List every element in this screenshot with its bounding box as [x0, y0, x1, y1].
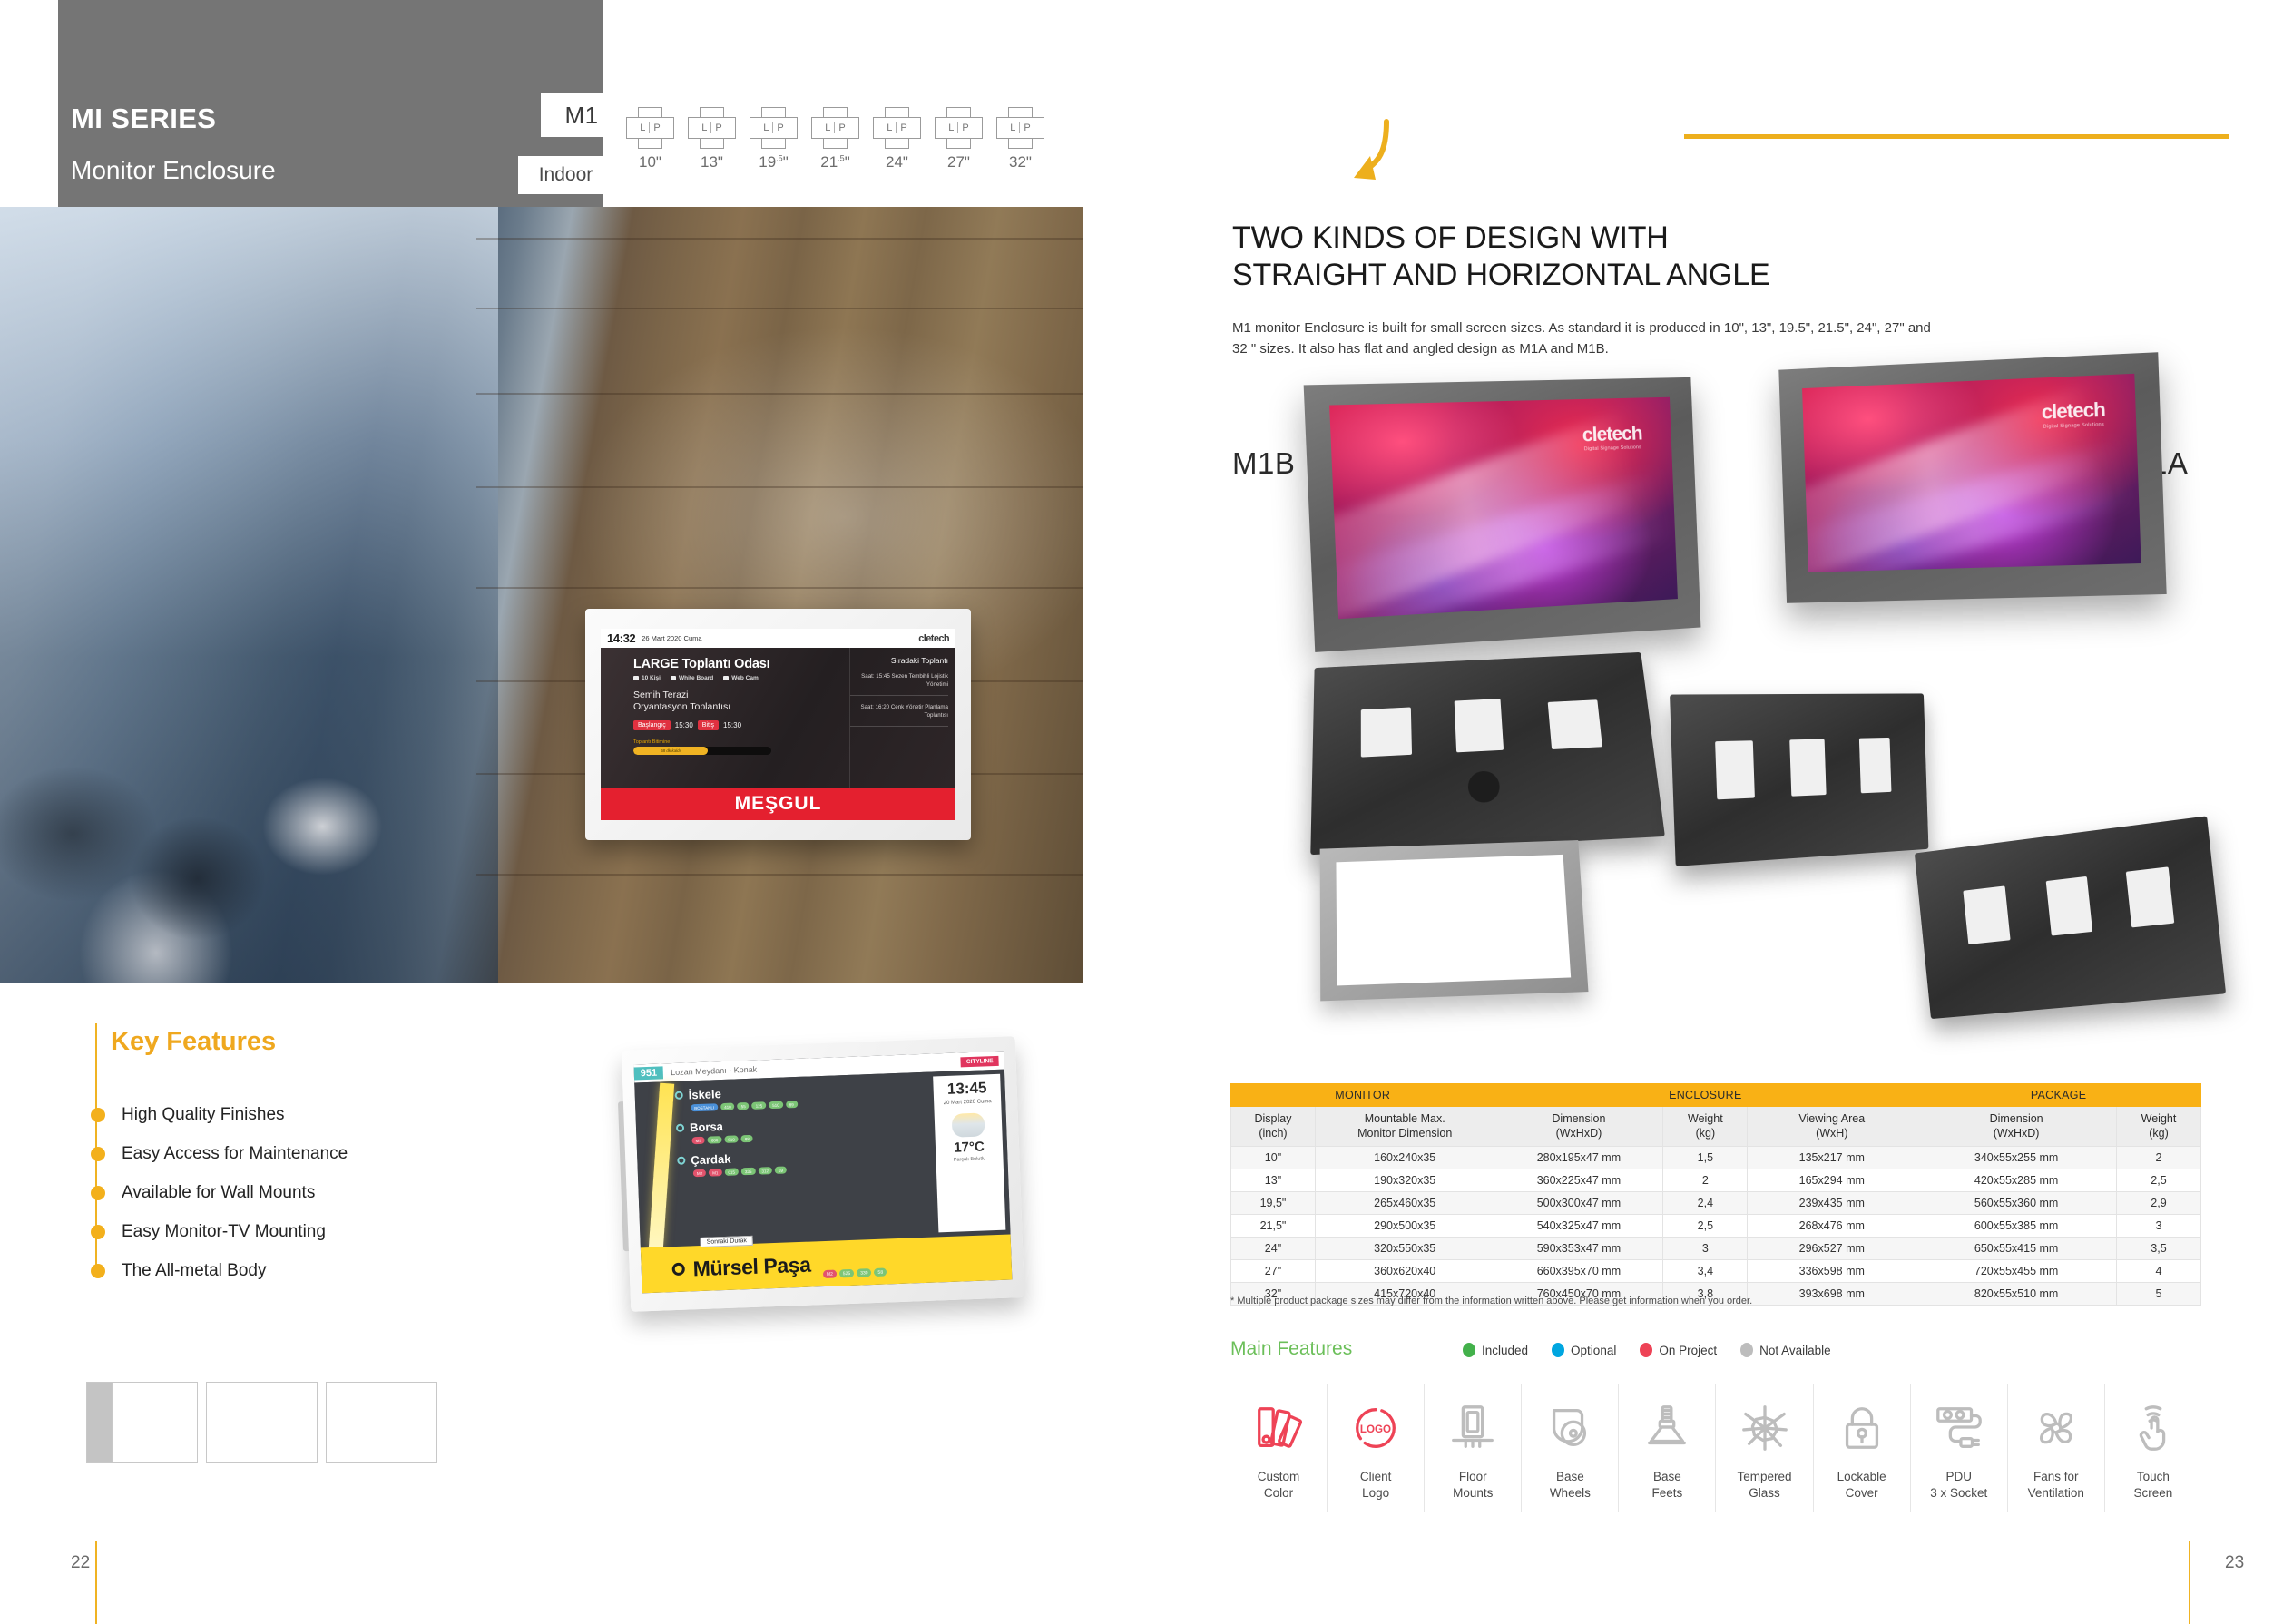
bullet-icon — [91, 1108, 105, 1122]
weather-condition: Parçalı Bulutlu — [936, 1156, 1003, 1165]
stop-line-badge: BOSTANLI — [691, 1103, 718, 1111]
feature-caption-line1: Base — [1522, 1469, 1618, 1485]
table-cell: 420x55x285 mm — [1916, 1169, 2117, 1192]
feature-caption: CustomColor — [1230, 1469, 1327, 1502]
table-cell: 3,5 — [2117, 1238, 2201, 1260]
left-page: 14:32 26 Mart 2020 Cuma cletech LARGE To… — [0, 0, 1141, 1624]
render-brand-a: cletech — [2041, 397, 2105, 423]
table-cell: 190x320x35 — [1315, 1169, 1494, 1192]
key-features-list: High Quality FinishesEasy Access for Mai… — [98, 1095, 348, 1290]
size-label: 27" — [935, 153, 983, 171]
size-label: 13" — [688, 153, 736, 171]
start-label: Başlangıç — [633, 720, 671, 730]
table-column-header: Mountable Max.Monitor Dimension — [1315, 1107, 1494, 1147]
model-tag: M1 — [541, 93, 622, 137]
key-feature-label: Easy Monitor-TV Mounting — [122, 1222, 326, 1242]
legend-item: Optional — [1552, 1343, 1616, 1357]
key-feature-label: Easy Access for Maintenance — [122, 1144, 348, 1164]
legend-label: On Project — [1659, 1344, 1717, 1357]
table-cell: 4 — [2117, 1260, 2201, 1283]
size-label: 32" — [996, 153, 1044, 171]
next-stop-line-badge: 330 — [857, 1268, 872, 1277]
table-cell: 660x395x70 mm — [1494, 1260, 1663, 1283]
transit-clock: 13:45 — [933, 1079, 1001, 1100]
feature-caption-line1: Client — [1328, 1469, 1424, 1485]
curved-arrow-icon — [1334, 116, 1434, 198]
stop-line-badge: M5 — [691, 1137, 705, 1145]
table-row: 13"190x320x35360x225x47 mm2165x294 mm420… — [1231, 1169, 2201, 1192]
transit-stop-list: İskeleBOSTANLI4105512551089BorsaM5680810… — [634, 1071, 938, 1247]
feature-caption-line2: Color — [1230, 1485, 1327, 1502]
padlock-icon — [1814, 1393, 1910, 1463]
key-feature-item: Available for Wall Mounts — [98, 1173, 348, 1212]
stop-line-badge: 312 — [758, 1167, 772, 1175]
next-meeting-heading: Sıradaki Toplantı — [850, 656, 948, 665]
bullet-icon — [91, 1147, 105, 1161]
next-stop-marker-icon — [671, 1263, 685, 1277]
legend-item: Included — [1463, 1343, 1528, 1357]
section-description: M1 monitor Enclosure is built for small … — [1232, 318, 1931, 360]
device-brand-logo: cletech — [918, 633, 949, 644]
table-cell: 165x294 mm — [1748, 1169, 1916, 1192]
webcam-icon — [723, 676, 729, 680]
table-cell: 296x527 mm — [1748, 1238, 1916, 1260]
legend-label: Optional — [1571, 1344, 1616, 1357]
base-feet-icon — [1619, 1393, 1715, 1463]
table-cell: 160x240x35 — [1315, 1147, 1494, 1169]
table-cell: 24" — [1231, 1238, 1316, 1260]
transit-route-name: Lozan Meydanı - Konak — [671, 1065, 757, 1077]
table-column-header: Weight(kg) — [2117, 1107, 2201, 1147]
svg-text:LOGO: LOGO — [1360, 1423, 1391, 1435]
table-column-header: Dimension(WxHxD) — [1916, 1107, 2117, 1147]
wall-mounted-meeting-display: 14:32 26 Mart 2020 Cuma cletech LARGE To… — [585, 609, 971, 840]
feature-padlock: LockableCover — [1813, 1384, 1910, 1512]
section-heading: TWO KINDS OF DESIGN WITH STRAIGHT AND HO… — [1232, 220, 1769, 295]
feature-caption: TouchScreen — [2105, 1469, 2201, 1502]
table-cell: 265x460x35 — [1315, 1192, 1494, 1215]
bullet-icon — [91, 1264, 105, 1278]
legend-dot-icon — [1740, 1343, 1753, 1357]
next-stop-name: Mürsel Paşa — [692, 1252, 811, 1281]
feature-caption-line1: Fans for — [2008, 1469, 2104, 1485]
enclosure-frame-render — [1320, 840, 1589, 1001]
stop-line-badge: 125 — [752, 1101, 767, 1110]
orientation-icon: LP — [750, 107, 798, 149]
client-logo-icon: LOGO — [1328, 1393, 1424, 1463]
table-cell: 19,5" — [1231, 1192, 1316, 1215]
feature-caption-line2: Logo — [1328, 1485, 1424, 1502]
bullet-icon — [91, 1225, 105, 1239]
table-cell: 13" — [1231, 1169, 1316, 1192]
feature-caption-line2: Feets — [1619, 1485, 1715, 1502]
start-time: 15:30 — [675, 721, 693, 729]
feature-color-swatch: CustomColor — [1230, 1384, 1327, 1512]
table-cell: 2 — [2117, 1147, 2201, 1169]
specification-table: MONITORENCLOSUREPACKAGE Display(inch)Mou… — [1230, 1083, 2201, 1306]
weather-temperature: 17°C — [936, 1139, 1004, 1157]
caster-wheel-icon — [1522, 1393, 1618, 1463]
table-cell: 360x225x47 mm — [1494, 1169, 1663, 1192]
table-cell: 360x620x40 — [1315, 1260, 1494, 1283]
stop-line-badge: 410 — [720, 1103, 735, 1111]
environment-tag: Indoor — [518, 156, 613, 194]
feature-caption-line1: Lockable — [1814, 1469, 1910, 1485]
table-cell: 500x300x47 mm — [1494, 1192, 1663, 1215]
next-meeting-2: Saat: 16:20 Cenk Yönetir Planlama Toplan… — [850, 704, 948, 727]
table-cell: 2,5 — [1663, 1215, 1748, 1238]
end-time: 15:30 — [723, 721, 741, 729]
legend-item: Not Available — [1740, 1343, 1831, 1357]
table-cell: 336x598 mm — [1748, 1260, 1916, 1283]
next-stop-line-badge: M2 — [823, 1270, 837, 1279]
table-column-header: Display(inch) — [1231, 1107, 1316, 1147]
people-icon — [633, 676, 639, 680]
table-cell: 820x55x510 mm — [1916, 1283, 2117, 1306]
table-column-header: Dimension(WxHxD) — [1494, 1107, 1663, 1147]
key-feature-label: Available for Wall Mounts — [122, 1183, 315, 1203]
table-header-row: Display(inch)Mountable Max.Monitor Dimen… — [1231, 1107, 2201, 1147]
table-cell: 560x55x360 mm — [1916, 1192, 2117, 1215]
feature-caption-line2: Wheels — [1522, 1485, 1618, 1502]
meeting-room-name: LARGE Toplantı Odası — [633, 657, 849, 671]
table-column-header: Weight(kg) — [1663, 1107, 1748, 1147]
end-label: Bitiş — [698, 720, 719, 730]
table-footnote: * Multiple product package sizes may dif… — [1230, 1296, 1752, 1306]
next-stop-tag: Sonraki Durak — [700, 1236, 753, 1247]
key-feature-label: High Quality Finishes — [122, 1105, 285, 1125]
stop-marker-icon — [675, 1091, 683, 1100]
feature-caption-line1: Floor — [1425, 1469, 1521, 1485]
main-features-row: CustomColorLOGOClientLogoFloorMountsBase… — [1230, 1384, 2201, 1512]
room-amenities: 10 Kişi White Board Web Cam — [633, 675, 849, 681]
table-cell: 5 — [2117, 1283, 2201, 1306]
size-option-27[interactable]: LP27" — [935, 107, 983, 171]
table-cell: 27" — [1231, 1260, 1316, 1283]
stop-line-badge: 55 — [738, 1102, 750, 1110]
key-feature-item: Easy Access for Maintenance — [98, 1134, 348, 1173]
hero-office-photo: 14:32 26 Mart 2020 Cuma cletech LARGE To… — [0, 207, 1083, 983]
feature-caption: TemperedGlass — [1716, 1469, 1812, 1502]
room-status-badge: MEŞGUL — [601, 788, 955, 820]
feature-caption: PDU3 x Socket — [1911, 1469, 2007, 1502]
next-stop-badges: M252533058 — [823, 1268, 887, 1279]
table-cell: 135x217 mm — [1748, 1147, 1916, 1169]
legend-dot-icon — [1463, 1343, 1475, 1357]
catalog-spread: 14:32 26 Mart 2020 Cuma cletech LARGE To… — [0, 0, 2283, 1624]
legend-dot-icon — [1552, 1343, 1564, 1357]
feature-caption-line1: Tempered — [1716, 1469, 1812, 1485]
product-photo-transit-display: 951 Lozan Meydanı - Konak CITYLINE İskel… — [610, 1036, 1027, 1326]
color-swatch-3 — [326, 1382, 437, 1463]
table-cell: 3,4 — [1663, 1260, 1748, 1283]
remaining-progress-value: 58 dk kaldı — [633, 747, 708, 755]
stop-line-badge: 015 — [724, 1168, 739, 1176]
table-cell: 2,5 — [2117, 1169, 2201, 1192]
next-stop-line-badge: 525 — [839, 1269, 855, 1278]
feature-caption-line2: Cover — [1814, 1485, 1910, 1502]
table-cell: 2,9 — [2117, 1192, 2201, 1215]
table-cell: 1,5 — [1663, 1147, 1748, 1169]
meeting-title: Oryantasyon Toplantısı — [633, 701, 849, 713]
size-option-32[interactable]: LP32" — [996, 107, 1044, 171]
feature-caption-line2: Mounts — [1425, 1485, 1521, 1502]
color-swatch-icon — [1230, 1393, 1327, 1463]
table-cell: 720x55x455 mm — [1916, 1260, 2117, 1283]
main-features-title: Main Features — [1230, 1338, 1352, 1360]
table-row: 24"320x550x35590x353x47 mm3296x527 mm650… — [1231, 1238, 2201, 1260]
feature-caption-line2: Screen — [2105, 1485, 2201, 1502]
feature-caption-line1: Touch — [2105, 1469, 2201, 1485]
availability-legend: IncludedOptionalOn ProjectNot Available — [1463, 1343, 1831, 1357]
next-stop-line-badge: 58 — [874, 1268, 887, 1277]
page-number-left: 22 — [71, 1553, 90, 1573]
transit-stop: BorsaM568081088 — [676, 1111, 936, 1144]
feature-caption: ClientLogo — [1328, 1469, 1424, 1502]
table-cell: 320x550x35 — [1315, 1238, 1494, 1260]
section-heading-line1: TWO KINDS OF DESIGN WITH — [1232, 220, 1769, 257]
table-cell: 3 — [1663, 1238, 1748, 1260]
color-swatch-row — [86, 1382, 437, 1463]
feature-base-feet: BaseFeets — [1618, 1384, 1715, 1512]
feature-caption-line2: Ventilation — [2008, 1485, 2104, 1502]
legend-item: On Project — [1640, 1343, 1717, 1357]
render-label-m1b: M1B — [1232, 446, 1295, 481]
table-group-header: MONITOR — [1231, 1084, 1494, 1107]
stop-line-badge: 810 — [724, 1135, 739, 1143]
stop-name: Çardak — [691, 1152, 731, 1168]
legend-dot-icon — [1640, 1343, 1652, 1357]
size-option-24[interactable]: LP24" — [873, 107, 921, 171]
feature-client-logo: LOGOClientLogo — [1327, 1384, 1424, 1512]
tempered-glass-icon — [1716, 1393, 1812, 1463]
orientation-icon: LP — [688, 107, 736, 149]
orientation-icon: LP — [935, 107, 983, 149]
meeting-owner: Semih Terazi Oryantasyon Toplantısı — [633, 690, 849, 713]
table-cell: 590x353x47 mm — [1494, 1238, 1663, 1260]
next-meeting-1: Saat: 15:45 Sezen Tembihli Lojistik Yöne… — [850, 673, 948, 696]
orientation-icon: LP — [626, 107, 674, 149]
stop-line-badge: 89 — [786, 1101, 798, 1108]
wall-bracket-render-3 — [1915, 816, 2226, 1019]
page-title: MI SERIES — [71, 103, 216, 135]
size-label: 24" — [873, 153, 921, 171]
remaining-label: Toplantı Bitimine — [633, 739, 849, 745]
table-group-header: PACKAGE — [1916, 1084, 2201, 1107]
size-options-row: LP10"LP13"LP19.5"LP21.5"LP24"LP27"LP32" — [626, 107, 1044, 171]
transit-stop: İskeleBOSTANLI4105512551089 — [674, 1079, 934, 1111]
table-cell: 650x55x415 mm — [1916, 1238, 2117, 1260]
stop-line-badge: 510 — [769, 1101, 783, 1110]
stop-name: Borsa — [690, 1120, 723, 1134]
table-cell: 280x195x47 mm — [1494, 1147, 1663, 1169]
product-render-m1a: cletech Digital Signage Solutions — [1778, 352, 2166, 603]
product-render-m1b: cletech Digital Signage Solutions — [1304, 377, 1701, 652]
orientation-icon: LP — [996, 107, 1044, 149]
size-option-13[interactable]: LP13" — [688, 107, 736, 171]
feature-caption-line1: PDU — [1911, 1469, 2007, 1485]
legend-label: Included — [1482, 1344, 1528, 1357]
bullet-icon — [91, 1186, 105, 1200]
stop-line-badge: 680 — [708, 1136, 722, 1144]
table-group-header: ENCLOSURE — [1494, 1084, 1916, 1107]
key-features-title: Key Features — [111, 1027, 276, 1057]
feature-tempered-glass: TemperedGlass — [1715, 1384, 1812, 1512]
render-screen-logo-a: cletech Digital Signage Solutions — [2041, 397, 2105, 429]
table-cell: 3 — [2117, 1215, 2201, 1238]
feature-caption-line1: Base — [1619, 1469, 1715, 1485]
legend-label: Not Available — [1759, 1344, 1831, 1357]
size-option-19[interactable]: LP19.5" — [750, 107, 798, 171]
table-column-header: Viewing Area(WxH) — [1748, 1107, 1916, 1147]
feature-caption: Fans forVentilation — [2008, 1469, 2104, 1502]
wood-panel-lines — [476, 207, 1083, 983]
table-row: 27"360x620x40660x395x70 mm3,4336x598 mm7… — [1231, 1260, 2201, 1283]
feature-caption-line2: 3 x Socket — [1911, 1485, 2007, 1502]
amenity-whiteboard: White Board — [679, 675, 713, 681]
stop-line-badge: M2 — [693, 1169, 707, 1178]
feature-caption-line1: Custom — [1230, 1469, 1327, 1485]
table-cell: 2 — [1663, 1169, 1748, 1192]
key-feature-item: The All-metal Body — [98, 1251, 348, 1290]
size-label: 19.5" — [750, 153, 798, 171]
remaining-progress-bar: 58 dk kaldı — [633, 747, 771, 755]
meeting-clock: 14:32 — [607, 631, 635, 645]
feature-touch-screen: TouchScreen — [2104, 1384, 2201, 1512]
right-spine-rule — [2189, 1541, 2190, 1624]
feature-caption: FloorMounts — [1425, 1469, 1521, 1502]
table-cell: 600x55x385 mm — [1916, 1215, 2117, 1238]
wall-bracket-render-1 — [1310, 652, 1665, 855]
orientation-icon: LP — [811, 107, 859, 149]
key-feature-item: Easy Monitor-TV Mounting — [98, 1212, 348, 1251]
table-row: 21,5"290x500x35540x325x47 mm2,5268x476 m… — [1231, 1215, 2201, 1238]
size-option-10[interactable]: LP10" — [626, 107, 674, 171]
key-feature-item: High Quality Finishes — [98, 1095, 348, 1134]
color-swatch-2 — [206, 1382, 318, 1463]
power-socket-icon — [1911, 1393, 2007, 1463]
render-screen-logo-b: cletech Digital Signage Solutions — [1582, 422, 1642, 452]
table-cell: 239x435 mm — [1748, 1192, 1916, 1215]
left-spine-rule — [95, 1541, 97, 1624]
render-brand-b: cletech — [1582, 422, 1642, 446]
weather-icon — [952, 1112, 985, 1137]
transit-stop: ÇardakM2M101533531269 — [677, 1144, 936, 1177]
stop-marker-icon — [677, 1157, 685, 1165]
table-cell: 340x55x255 mm — [1916, 1147, 2117, 1169]
orientation-icon: LP — [873, 107, 921, 149]
size-option-21[interactable]: LP21.5" — [811, 107, 859, 171]
transit-date: 20 Mart 2020 Cuma — [934, 1099, 1001, 1109]
page-subtitle: Monitor Enclosure — [71, 156, 276, 185]
key-feature-label: The All-metal Body — [122, 1261, 266, 1281]
top-accent-rule — [1684, 134, 2229, 139]
feature-caption: BaseWheels — [1522, 1469, 1618, 1502]
amenity-capacity: 10 Kişi — [642, 675, 661, 681]
meeting-owner-name: Semih Terazi — [633, 690, 849, 701]
stop-line-badge: 335 — [741, 1168, 756, 1176]
table-cell: 268x476 mm — [1748, 1215, 1916, 1238]
stop-name: İskele — [688, 1087, 721, 1101]
page-number-right: 23 — [2225, 1553, 2244, 1573]
table-cell: 2,4 — [1663, 1192, 1748, 1215]
table-cell: 290x500x35 — [1315, 1215, 1494, 1238]
touch-screen-icon — [2105, 1393, 2201, 1463]
stop-marker-icon — [676, 1124, 684, 1132]
feature-power-socket: PDU3 x Socket — [1910, 1384, 2007, 1512]
floor-mount-icon — [1425, 1393, 1521, 1463]
whiteboard-icon — [671, 676, 676, 680]
feature-floor-mount: FloorMounts — [1424, 1384, 1521, 1512]
color-swatch-grey-accent — [86, 1382, 113, 1463]
size-label: 21.5" — [811, 153, 859, 171]
table-row: 19,5"265x460x35500x300x47 mm2,4239x435 m… — [1231, 1192, 2201, 1215]
stop-line-badge: 69 — [775, 1166, 787, 1173]
wall-bracket-render-2 — [1670, 693, 1928, 866]
table-cell: 10" — [1231, 1147, 1316, 1169]
stop-line-badge: 88 — [741, 1135, 753, 1142]
feature-caption-line2: Glass — [1716, 1485, 1812, 1502]
feature-caption: LockableCover — [1814, 1469, 1910, 1502]
table-cell: 540x325x47 mm — [1494, 1215, 1663, 1238]
transit-operator-logo: CITYLINE — [961, 1055, 999, 1067]
stop-line-badge: M1 — [709, 1169, 722, 1177]
amenity-webcam: Web Cam — [731, 675, 759, 681]
transit-line-number: 951 — [634, 1066, 664, 1080]
fan-icon — [2008, 1393, 2104, 1463]
transit-info-panel: 13:45 20 Mart 2020 Cuma 17°C Parçalı Bul… — [933, 1074, 1005, 1233]
table-cell: 393x698 mm — [1748, 1283, 1916, 1306]
table-row: 10"160x240x35280x195x47 mm1,5135x217 mm3… — [1231, 1147, 2201, 1169]
section-heading-line2: STRAIGHT AND HORIZONTAL ANGLE — [1232, 257, 1769, 294]
feature-fan: Fans forVentilation — [2007, 1384, 2104, 1512]
feature-caption: BaseFeets — [1619, 1469, 1715, 1502]
table-group-row: MONITORENCLOSUREPACKAGE — [1231, 1084, 2201, 1107]
table-cell: 21,5" — [1231, 1215, 1316, 1238]
size-label: 10" — [626, 153, 674, 171]
feature-caster-wheel: BaseWheels — [1521, 1384, 1618, 1512]
meeting-date: 26 Mart 2020 Cuma — [642, 634, 701, 642]
